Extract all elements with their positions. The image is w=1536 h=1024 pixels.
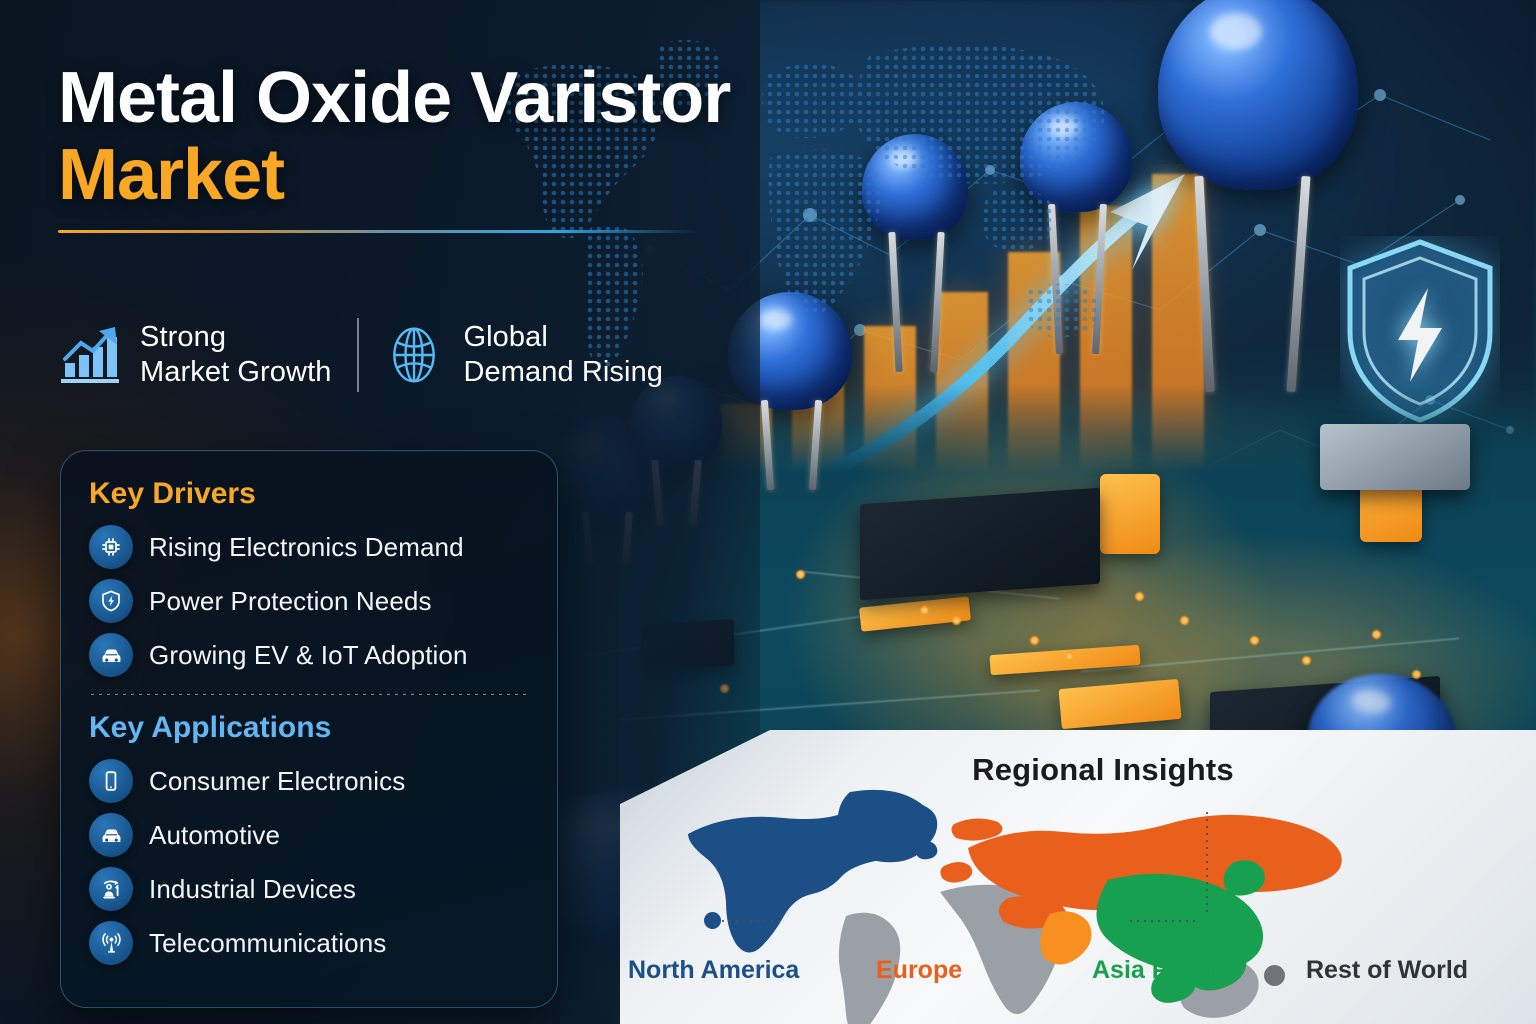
list-item-label: Consumer Electronics [149,766,405,797]
varistor-component [1020,102,1146,402]
title-underline [58,230,698,233]
list-item[interactable]: Automotive [89,810,529,860]
legend-dot-rest-of-world [1264,965,1285,986]
key-info-panel: Key Drivers Rising Electronics Demand [60,450,558,1008]
car-icon [89,633,133,677]
page-title: Metal Oxide Varistor Market [58,62,958,233]
cpu-chip-icon [89,525,133,569]
legend-label-rest-of-world[interactable]: Rest of World [1306,956,1468,985]
regional-insights-title: Regional Insights [620,752,1536,788]
highlight-badges: Strong Market Growth [58,318,663,392]
list-item[interactable]: Consumer Electronics [89,756,529,806]
title-accent: Market [58,134,958,216]
smartphone-icon [89,759,133,803]
connector-line-asia-pacific [1130,920,1206,922]
legend-label-asia-pacific[interactable]: Asia Pacific [1092,956,1232,985]
regional-insights-panel: Regional Insights [620,730,1536,1024]
list-item[interactable]: Telecommunications [89,918,529,968]
list-item-label: Industrial Devices [149,874,356,905]
shield-bolt-icon [89,579,133,623]
list-item[interactable]: Power Protection Needs [89,576,529,626]
badge-global-demand-label: Global Demand Rising [463,320,663,391]
legend-label-europe[interactable]: Europe [876,956,962,985]
varistor-component-main [1158,0,1368,424]
globe-icon [381,322,447,388]
list-item-label: Power Protection Needs [149,586,432,617]
list-item[interactable]: Growing EV & IoT Adoption [89,630,529,680]
legend-label-north-america[interactable]: North America [628,956,799,985]
legend-dot-north-america [704,912,721,929]
key-drivers-heading: Key Drivers [89,477,529,510]
key-applications-list: Consumer Electronics Automotive [89,756,529,968]
badge-market-growth-label: Strong Market Growth [140,320,331,391]
robot-arm-icon [89,867,133,911]
list-item[interactable]: Rising Electronics Demand [89,522,529,572]
title-primary: Metal Oxide Varistor [58,62,958,134]
antenna-signal-icon [89,921,133,965]
car-icon [89,813,133,857]
list-item-label: Growing EV & IoT Adoption [149,640,468,671]
connector-line-north-america [722,920,784,922]
key-drivers-list: Rising Electronics Demand Power Protecti… [89,522,529,680]
badge-divider [357,318,359,392]
regional-legend: North America Europe Asia Pacific Rest o… [620,956,1536,990]
key-applications-heading: Key Applications [89,711,529,744]
list-item-label: Telecommunications [149,928,386,959]
list-item-label: Rising Electronics Demand [149,532,464,563]
growth-chart-icon [58,322,124,388]
badge-global-demand: Global Demand Rising [381,320,663,391]
list-item[interactable]: Industrial Devices [89,864,529,914]
legend-dot-asia-pacific [1198,912,1215,929]
badge-market-growth: Strong Market Growth [58,320,331,391]
region-north-america [688,790,937,953]
section-divider [91,694,527,695]
connector-line-vertical [1206,812,1208,922]
infographic-canvas: Metal Oxide Varistor Market [0,0,1536,1024]
list-item-label: Automotive [149,820,280,851]
